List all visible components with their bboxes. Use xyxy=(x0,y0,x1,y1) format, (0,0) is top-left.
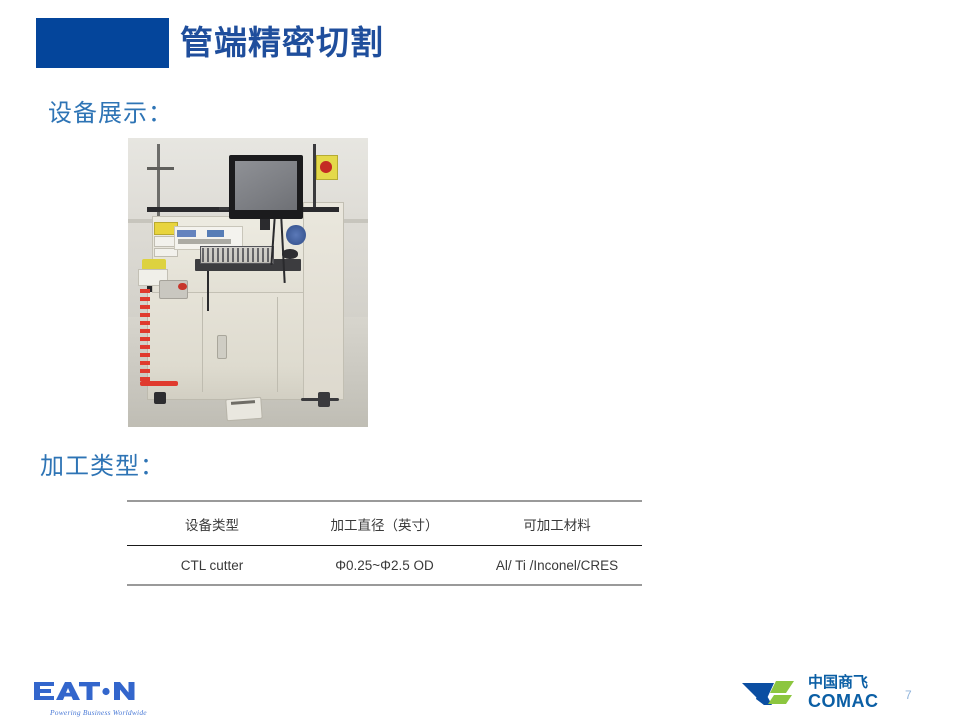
monitor-stand xyxy=(260,219,270,231)
column-header-diameter: 加工直径（英寸） xyxy=(297,501,472,546)
cable-3 xyxy=(207,271,209,311)
comac-chinese-name: 中国商飞 xyxy=(808,675,879,690)
eaton-wordmark-icon xyxy=(32,681,157,701)
equipment-photo-content xyxy=(128,138,368,427)
cell-equipment-type: CTL cutter xyxy=(127,546,297,586)
machine-foot-left xyxy=(154,392,166,404)
plate-eaton-mark xyxy=(177,230,196,236)
slide: 管端精密切割 设备展示： xyxy=(0,0,960,720)
cell-materials: Al/ Ti /Inconel/CRES xyxy=(472,546,642,586)
spec-table-body: CTL cutter Φ0.25~Φ2.5 OD Al/ Ti /Inconel… xyxy=(127,546,642,586)
photo-pole-crossbar xyxy=(147,167,173,170)
spec-table: 设备类型 加工直径（英寸） 可加工材料 CTL cutter Φ0.25~Φ2.… xyxy=(127,500,642,586)
comac-logo: 中国商飞 COMAC xyxy=(740,670,890,714)
floor-hose xyxy=(301,398,339,401)
eaton-logo: Powering Business Worldwide xyxy=(32,681,157,715)
plate-comac-mark xyxy=(207,230,224,236)
column-header-equipment-type: 设备类型 xyxy=(127,501,297,546)
monitor-screen xyxy=(235,161,297,210)
red-base-bar xyxy=(140,381,178,386)
comac-english-name: COMAC xyxy=(808,692,879,710)
spec-table-head: 设备类型 加工直径（英寸） 可加工材料 xyxy=(127,501,642,546)
machine-door-latch xyxy=(217,335,227,359)
section-heading-equipment: 设备展示： xyxy=(48,93,173,128)
cell-diameter: Φ0.25~Φ2.5 OD xyxy=(297,546,472,586)
title-accent-block xyxy=(36,18,169,68)
page-number: 7 xyxy=(905,688,912,702)
red-coil-hose xyxy=(140,288,150,380)
comac-swoosh-icon xyxy=(740,675,802,709)
machine-round-badge xyxy=(286,225,305,245)
comac-text-block: 中国商飞 COMAC xyxy=(808,675,879,710)
eaton-tagline: Powering Business Worldwide xyxy=(50,708,157,717)
red-emergency-button xyxy=(178,283,186,290)
keyboard xyxy=(200,246,274,264)
column-header-materials: 可加工材料 xyxy=(472,501,642,546)
table-row: CTL cutter Φ0.25~Φ2.5 OD Al/ Ti /Inconel… xyxy=(127,546,642,586)
equipment-photo xyxy=(128,138,368,427)
machine-door-seam-left xyxy=(202,297,203,392)
machine-right-column xyxy=(303,202,343,401)
estop-button xyxy=(320,161,332,173)
table-header-row: 设备类型 加工直径（英寸） 可加工材料 xyxy=(127,501,642,546)
plate-caption-text xyxy=(178,239,231,244)
keyboard-keys xyxy=(202,248,272,262)
cable-overhead xyxy=(313,144,316,208)
machine-door-seam-right xyxy=(277,297,278,392)
page-title: 管端精密切割 xyxy=(180,18,384,68)
comac-mark-icon xyxy=(740,675,802,709)
section-heading-process: 加工类型： xyxy=(40,446,165,481)
